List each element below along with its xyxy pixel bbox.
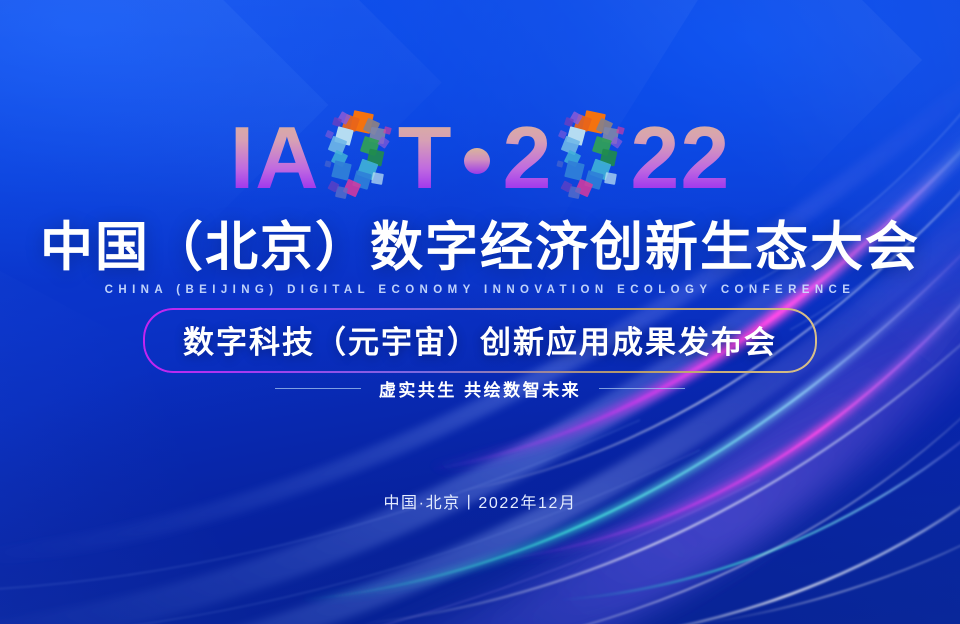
page-subtitle-english: CHINA (BEIJING) DIGITAL ECONOMY INNOVATI… bbox=[0, 284, 960, 296]
tagline-row: 虚实共生 共绘数智未来 bbox=[0, 376, 960, 401]
logo-text-ia: IA bbox=[230, 114, 320, 202]
pixel-glyph-zero-icon bbox=[554, 112, 628, 204]
logo-text-t: T bbox=[398, 114, 453, 202]
pixel-glyph-d-icon bbox=[322, 112, 396, 204]
tagline-rule-right bbox=[599, 388, 685, 390]
subtitle-pill-container: 数字科技（元宇宙）创新应用成果发布会 bbox=[0, 308, 960, 373]
tagline-rule-left bbox=[275, 388, 361, 390]
subtitle-pill: 数字科技（元宇宙）创新应用成果发布会 bbox=[143, 308, 817, 373]
event-location-date: 中国·北京丨2022年12月 bbox=[0, 489, 960, 513]
page-title: 中国（北京）数字经济创新生态大会 bbox=[0, 218, 960, 277]
logo-text-22: 22 bbox=[630, 114, 730, 202]
tagline-text: 虚实共生 共绘数智未来 bbox=[379, 376, 581, 401]
conference-poster: IA T 2 22 中国（北京）数字经济创新生态大会 CHINA (BEIJIN… bbox=[0, 0, 960, 624]
event-logo: IA T 2 22 bbox=[0, 108, 960, 208]
logo-text-2: 2 bbox=[502, 114, 552, 202]
background-facet-5 bbox=[0, 249, 506, 624]
dot-separator-icon bbox=[464, 148, 490, 174]
